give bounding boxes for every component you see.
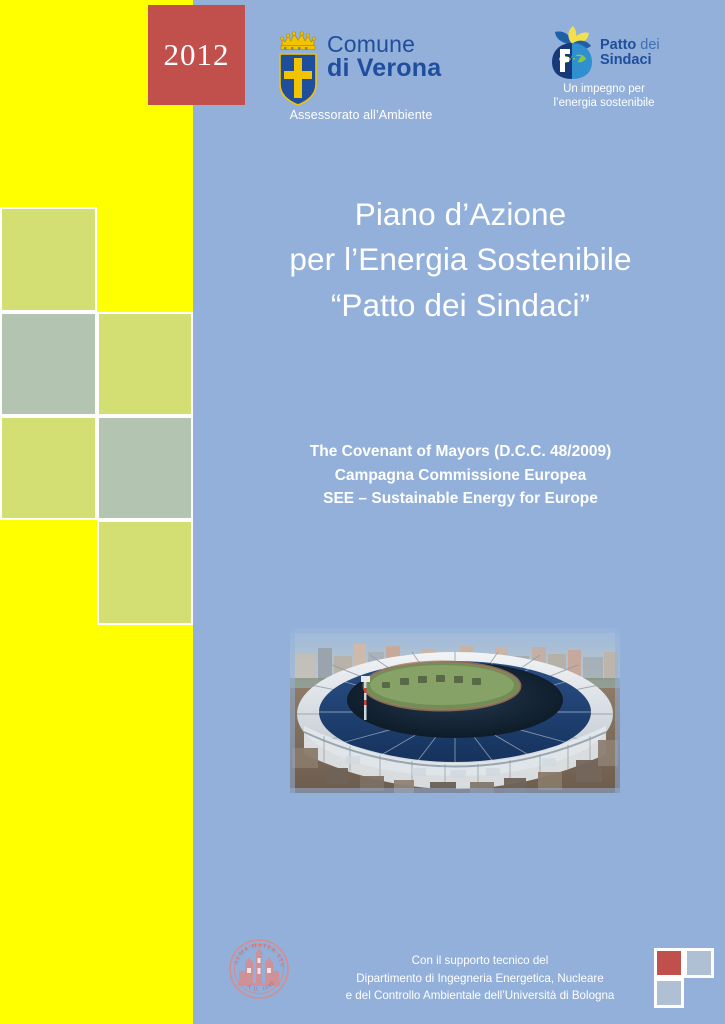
footer-credit-line3: e del Controllo Ambientale dell’Universi… <box>300 987 660 1005</box>
footer-credit-line2: Dipartimento di Ingegneria Energetica, N… <box>300 970 660 988</box>
verona-crest-icon <box>274 29 322 107</box>
patto-wordmark: Patto dei Sindaci <box>600 38 660 68</box>
footer-credit: Con il supporto tecnico del Dipartimento… <box>300 952 660 1005</box>
stadium-photo <box>290 628 620 793</box>
unibo-seal: ALMA MATER STUDIORUM A.D. 1088 <box>228 938 290 1000</box>
page-subtitle-line1: The Covenant of Mayors (D.C.C. 48/2009) <box>196 440 725 464</box>
patto-word-patto: Patto <box>600 37 636 53</box>
patto-wordmark-line1: Patto dei <box>600 38 660 53</box>
checker-tile-r4c1 <box>0 520 97 625</box>
corner-square-grey-bottom-left <box>654 978 684 1008</box>
page-subtitle: The Covenant of Mayors (D.C.C. 48/2009) … <box>196 440 725 511</box>
page-subtitle-line2: Campagna Commissione Europea <box>196 464 725 488</box>
patto-tagline: Un impegno per l’energia sostenibile <box>546 82 662 111</box>
cover-page: 2012 <box>0 0 725 1024</box>
patto-dei-sindaci-logo: Patto dei Sindaci Un impegno per l’energ… <box>546 24 662 122</box>
patto-tagline-line1: Un impegno per <box>546 82 662 96</box>
checker-tile-r1c1 <box>0 207 97 312</box>
page-title: Piano d’Azione per l’Energia Sostenibile… <box>196 192 725 328</box>
checkerboard-decoration <box>0 207 193 625</box>
year-label: 2012 <box>164 37 230 73</box>
checker-tile-r3c1 <box>0 416 97 520</box>
corner-decoration <box>654 948 712 1006</box>
page-subtitle-line3: SEE – Sustainable Energy for Europe <box>196 487 725 511</box>
corner-square-red <box>654 948 684 978</box>
verona-wordmark: Comune di Verona <box>327 33 441 82</box>
checker-tile-r1c2 <box>97 207 193 312</box>
checker-tile-r4c2 <box>97 520 193 625</box>
patto-word-dei: dei <box>636 37 659 53</box>
footer-credit-line1: Con il supporto tecnico del <box>300 952 660 970</box>
stadium-photo-frame <box>290 628 620 793</box>
patto-leaf-mark-icon <box>546 24 598 80</box>
checker-tile-r2c1 <box>0 312 97 416</box>
checker-tile-r3c2 <box>97 416 193 520</box>
comune-di-verona-logo: Comune di Verona Assessorato all’Ambient… <box>271 26 446 126</box>
corner-square-grey-top-right <box>684 948 714 978</box>
verona-department-label: Assessorato all’Ambiente <box>275 108 447 122</box>
checker-tile-r2c2 <box>97 312 193 416</box>
page-title-line3: “Patto dei Sindaci” <box>196 283 725 328</box>
verona-wordmark-line2: di Verona <box>327 56 441 82</box>
verona-wordmark-line1: Comune <box>327 33 441 56</box>
patto-wordmark-line2: Sindaci <box>600 53 660 68</box>
page-title-line2: per l’Energia Sostenibile <box>196 237 725 282</box>
year-badge: 2012 <box>148 5 245 105</box>
page-title-line1: Piano d’Azione <box>196 192 725 237</box>
patto-tagline-line2: l’energia sostenibile <box>546 96 662 110</box>
